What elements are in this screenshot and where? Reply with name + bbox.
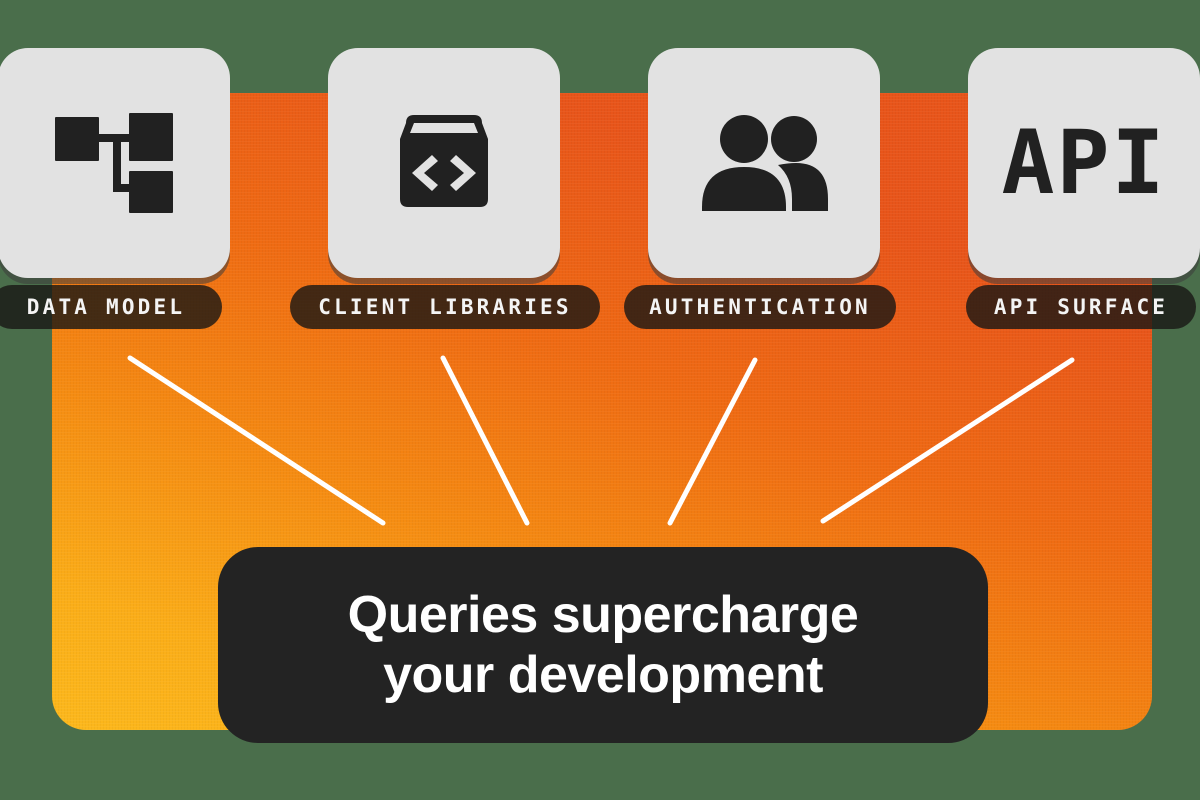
- label-text: API SURFACE: [994, 295, 1168, 319]
- card-client-libraries[interactable]: [328, 48, 560, 278]
- headline-line-1: Queries supercharge: [348, 585, 859, 645]
- label-text: AUTHENTICATION: [649, 295, 871, 319]
- api-text-icon: API: [1002, 119, 1167, 207]
- hierarchy-icon: [55, 113, 173, 213]
- headline-line-2: your development: [383, 645, 823, 705]
- label-text: DATA MODEL: [27, 295, 185, 319]
- label-client-libraries: CLIENT LIBRARIES: [290, 285, 600, 329]
- headline-bubble: Queries supercharge your development: [218, 547, 988, 743]
- card-authentication[interactable]: [648, 48, 880, 278]
- label-authentication: AUTHENTICATION: [624, 285, 896, 329]
- diagram-stage: DATA MODEL CLIENT LIBRARIES AUTHENTICATI: [0, 0, 1200, 800]
- label-api-surface: API SURFACE: [966, 285, 1196, 329]
- label-text: CLIENT LIBRARIES: [318, 295, 572, 319]
- card-data-model[interactable]: [0, 48, 230, 278]
- people-icon: [700, 115, 828, 211]
- label-data-model: DATA MODEL: [0, 285, 222, 329]
- card-api-surface[interactable]: API: [968, 48, 1200, 278]
- code-package-icon: [392, 111, 496, 215]
